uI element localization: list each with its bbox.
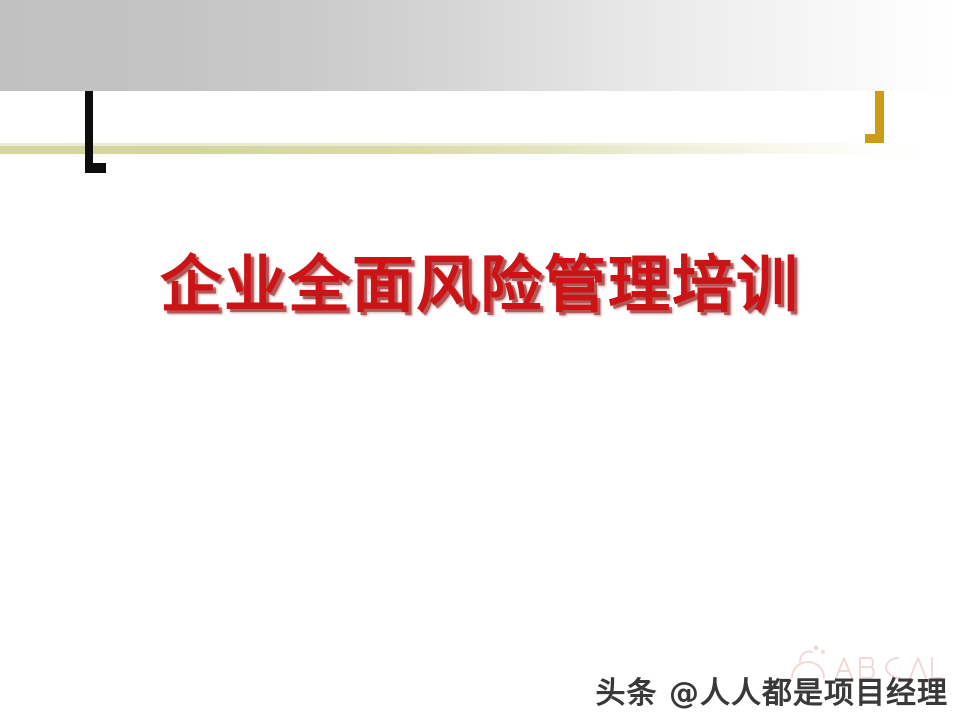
watermark-text: 头条 @人人都是项目经理 [0, 668, 948, 712]
olive-rule-highlight [0, 143, 960, 146]
orange-bracket-foot-stroke [865, 134, 884, 143]
title-block: 企业全面风险管理培训 [0, 252, 960, 319]
presentation-slide: 企业全面风险管理培训 头条 @人人都是项目经理 [0, 0, 960, 720]
black-bracket-vertical-stroke [85, 91, 93, 173]
black-bracket-foot-stroke [85, 163, 106, 173]
top-gray-gradient-band [0, 0, 960, 91]
page-title: 企业全面风险管理培训 [160, 252, 800, 319]
